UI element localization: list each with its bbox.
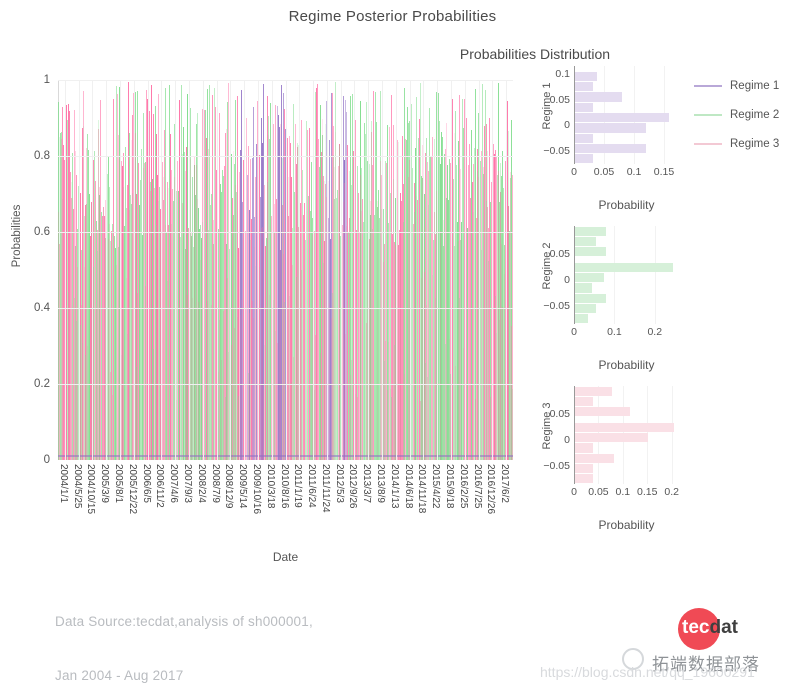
histogram-bar [574, 134, 593, 143]
histogram-bar [574, 283, 592, 292]
timeseries-x-tick: 2015/9/18 [444, 464, 455, 509]
histogram-bar [574, 123, 646, 132]
legend-item-regime-2[interactable]: Regime 2 [694, 103, 779, 127]
timeseries-gridline-v [492, 80, 493, 460]
timeseries-x-tick: 2005/8/1 [113, 464, 124, 503]
tecdat-logo: tecdat [672, 608, 772, 652]
timeseries-x-tick: 2005/12/22 [127, 464, 138, 514]
histogram-bar [574, 397, 593, 406]
timeseries-y-tick: 0.4 [34, 302, 50, 314]
timeseries-gridline-v [410, 80, 411, 460]
timeseries-x-tick: 2016/2/25 [458, 464, 469, 509]
timeseries-x-tick: 2014/1/13 [389, 464, 400, 509]
timeseries-gridline-v [106, 80, 107, 460]
timeseries-y-tick: 0.2 [34, 378, 50, 390]
histogram-bar [574, 423, 674, 432]
histogram-bar [574, 113, 669, 122]
timeseries-gridline-v [299, 80, 300, 460]
legend-label: Regime 3 [730, 138, 779, 150]
regime-3-y-axis-label: Regime 3 [541, 384, 553, 468]
timeseries-x-tick: 2017/6/2 [499, 464, 510, 503]
regime-1-y-axis-label: Regime 1 [541, 64, 553, 148]
timeseries-x-tick: 2008/2/4 [196, 464, 207, 503]
histogram-plot-area [574, 226, 679, 324]
histogram-bar [574, 103, 593, 112]
timeseries-gridline-v [161, 80, 162, 460]
timeseries-gridline-v [327, 80, 328, 460]
histogram-y-tick: 0.05 [550, 408, 570, 420]
timeseries-gridline-v [134, 80, 135, 460]
timeseries-gridline-v [423, 80, 424, 460]
timeseries-gridline-v [382, 80, 383, 460]
footer-source-line: Data Source:tecdat,analysis of sh000001, [55, 614, 313, 629]
histogram-bar [574, 72, 597, 81]
histogram-bar [574, 314, 588, 323]
histogram-x-tick: 0.1 [627, 166, 642, 178]
timeseries-x-tick: 2011/6/24 [306, 464, 317, 508]
timeseries-x-tick: 2008/12/9 [223, 464, 234, 509]
timeseries-y-tick: 0.8 [34, 150, 50, 162]
timeseries-gridline-v [368, 80, 369, 460]
timeseries-x-tick: 2014/11/18 [416, 464, 427, 513]
timeseries-x-tick: 2016/12/26 [485, 464, 496, 514]
histogram-gridline [614, 226, 615, 324]
histogram-bar [574, 273, 604, 282]
timeseries-x-tick: 2010/3/18 [265, 464, 276, 509]
timeseries-x-tick: 2013/8/9 [375, 464, 386, 503]
timeseries-gridline-v [396, 80, 397, 460]
timeseries-x-tick: 2007/9/3 [182, 464, 193, 503]
histogram-plot-area [574, 386, 679, 484]
timeseries-gridline-v [189, 80, 190, 460]
histogram-x-tick: 0.05 [594, 166, 614, 178]
histogram-bar [574, 144, 646, 153]
legend-swatch-icon [694, 143, 722, 145]
timeseries-gridline-v [272, 80, 273, 460]
legend-swatch-icon [694, 114, 722, 116]
histogram-x-tick: 0 [571, 326, 577, 338]
csdn-watermark: https://blog.csdn.net/qq_19600291 [540, 664, 755, 680]
histogram-y-tick: 0.05 [550, 248, 570, 260]
timeseries-gridline-v [203, 80, 204, 460]
histogram-bar [574, 407, 630, 416]
timeseries-gridline-v [244, 80, 245, 460]
histogram-bar [574, 237, 596, 246]
timeseries-x-tick: 2013/3/7 [361, 464, 372, 503]
histogram-x-tick: 0.05 [588, 486, 608, 498]
histogram-bar [574, 154, 593, 163]
histogram-bar [574, 454, 614, 463]
timeseries-gridline-v [230, 80, 231, 460]
histogram-x-tick: 0.15 [654, 166, 674, 178]
timeseries-gridline-v [92, 80, 93, 460]
timeseries-gridline-v [286, 80, 287, 460]
figure-canvas: Regime Posterior Probabilities Probabili… [0, 0, 785, 693]
histogram-bar [574, 92, 622, 101]
histogram-x-tick: 0 [571, 486, 577, 498]
legend-swatch-icon [694, 85, 722, 87]
timeseries-x-tick: 2005/3/9 [99, 464, 110, 503]
histogram-x-tick: 0 [571, 166, 577, 178]
histogram-x-tick: 0.1 [616, 486, 631, 498]
timeseries-x-tick: 2011/1/19 [292, 464, 303, 508]
timeseries-plot-area [58, 80, 513, 460]
timeseries-gridline-v [437, 80, 438, 460]
regime-3-histogram: Regime 3 −0.0500.0500.050.10.150.2 [527, 382, 692, 502]
histogram-plot-area [574, 66, 679, 164]
legend-label: Regime 1 [730, 80, 779, 92]
regime-2-histogram: Regime 2 −0.0500.0500.10.2 [527, 222, 692, 342]
timeseries-line [512, 389, 513, 460]
timeseries-x-tick: 2006/6/5 [141, 464, 152, 503]
timeseries-x-tick: 2009/5/14 [237, 464, 248, 509]
legend[interactable]: Regime 1Regime 2Regime 3 [694, 74, 779, 161]
logo-wordmark: tecdat [682, 617, 778, 639]
regime-1-x-axis-label: Probability [574, 198, 679, 212]
regime-2-x-axis-label: Probability [574, 358, 679, 372]
histogram-y-tick: 0 [564, 434, 570, 446]
timeseries-y-axis-ticks: 00.20.40.60.81 [0, 60, 56, 460]
timeseries-x-tick: 2015/4/22 [430, 464, 441, 509]
histogram-bar [574, 474, 593, 483]
timeseries-x-tick: 2010/8/16 [279, 464, 290, 509]
histogram-y-axis-line [574, 66, 575, 164]
timeseries-x-tick: 2007/4/6 [168, 464, 179, 503]
timeseries-x-tick: 2012/5/3 [334, 464, 345, 503]
page-title: Regime Posterior Probabilities [0, 8, 785, 25]
logo-word-tec: tec [682, 617, 709, 638]
histogram-x-tick: 0.15 [637, 486, 657, 498]
timeseries-gridline-v [148, 80, 149, 460]
timeseries-gridline-v [175, 80, 176, 460]
logo-word-dat: dat [709, 617, 738, 638]
timeseries-gridline-v [79, 80, 80, 460]
timeseries-gridline-v [120, 80, 121, 460]
timeseries-x-tick: 2016/7/25 [472, 464, 483, 509]
timeseries-y-tick: 0 [44, 454, 50, 466]
timeseries-x-tick: 2004/5/25 [72, 464, 83, 509]
timeseries-gridline-v [506, 80, 507, 460]
histogram-y-axis-line [574, 386, 575, 484]
timeseries-x-tick: 2008/7/9 [210, 464, 221, 503]
timeseries-x-tick: 2009/10/16 [251, 464, 262, 514]
timeseries-chart: Probabilities 00.20.40.60.81 2004/1/1200… [0, 60, 520, 480]
timeseries-gridline-v [258, 80, 259, 460]
histogram-y-tick: −0.05 [543, 145, 570, 157]
timeseries-y-tick: 0.6 [34, 226, 50, 238]
histogram-gridline [655, 226, 656, 324]
histogram-bar [574, 443, 593, 452]
histogram-x-tick: 0.1 [607, 326, 622, 338]
legend-item-regime-3[interactable]: Regime 3 [694, 132, 779, 156]
histogram-y-axis-line [574, 226, 575, 324]
histogram-bar [574, 82, 593, 91]
regime-1-histogram: Regime 1 −0.0500.050.100.050.10.15 [527, 62, 692, 182]
timeseries-y-tick: 1 [44, 74, 50, 86]
timeseries-gridline-v [341, 80, 342, 460]
timeseries-x-axis-label: Date [58, 550, 513, 564]
timeseries-x-tick: 2006/11/2 [154, 464, 165, 508]
timeseries-gridline-v [65, 80, 66, 460]
histogram-x-tick: 0.2 [647, 326, 662, 338]
histogram-bar [574, 294, 606, 303]
histogram-bar [574, 227, 606, 236]
distribution-title: Probabilities Distribution [430, 46, 640, 62]
timeseries-x-tick: 2004/10/15 [85, 464, 96, 514]
histogram-y-tick: −0.05 [543, 460, 570, 472]
histogram-y-tick: 0.1 [555, 68, 570, 80]
timeseries-gridline-v [217, 80, 218, 460]
timeseries-gridline-v [354, 80, 355, 460]
histogram-bar [574, 304, 596, 313]
timeseries-gridline-v [465, 80, 466, 460]
histogram-bar [574, 247, 606, 256]
timeseries-gridline-v [313, 80, 314, 460]
timeseries-x-tick: 2014/6/18 [403, 464, 414, 509]
histogram-gridline [672, 386, 673, 484]
timeseries-gridline-v [451, 80, 452, 460]
timeseries-x-tick: 2004/1/1 [58, 464, 69, 503]
timeseries-x-axis-ticks: 2004/1/12004/5/252004/10/152005/3/92005/… [58, 464, 518, 560]
histogram-bar [574, 464, 593, 473]
timeseries-x-tick: 2012/9/26 [347, 464, 358, 509]
histogram-y-tick: 0.05 [550, 94, 570, 106]
footer-daterange-line: Jan 2004 - Aug 2017 [55, 668, 183, 683]
histogram-x-tick: 0.2 [664, 486, 679, 498]
histogram-y-tick: 0 [564, 119, 570, 131]
histogram-y-tick: −0.05 [543, 300, 570, 312]
regime-2-y-axis-label: Regime 2 [541, 224, 553, 308]
histogram-y-tick: 0 [564, 274, 570, 286]
timeseries-gridline-v [479, 80, 480, 460]
legend-label: Regime 2 [730, 109, 779, 121]
histogram-bar [574, 387, 612, 396]
histogram-bar [574, 263, 673, 272]
histogram-bar [574, 433, 648, 442]
regime-3-x-axis-label: Probability [574, 518, 679, 532]
timeseries-x-tick: 2011/11/24 [320, 464, 331, 513]
legend-item-regime-1[interactable]: Regime 1 [694, 74, 779, 98]
